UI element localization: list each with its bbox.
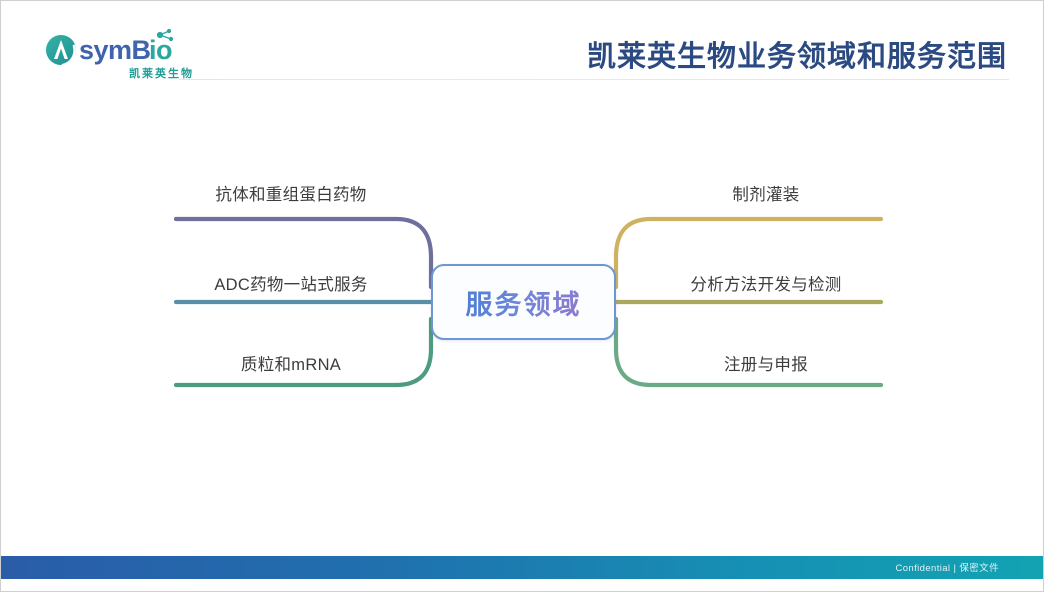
footer-bar <box>1 556 1044 579</box>
slide-canvas: symB io 凯莱英生物 凯莱英生物业务领域和服务范围 <box>0 0 1044 592</box>
center-node[interactable]: 服务领域 <box>431 264 616 340</box>
branch-label-left-2[interactable]: ADC药物一站式服务 <box>176 271 406 295</box>
svg-text:symB: symB <box>79 35 151 65</box>
branch-label-left-3[interactable]: 质粒和mRNA <box>176 351 406 375</box>
footer-whitespace <box>1 579 1044 591</box>
logo-asymbio-icon: symB io <box>41 27 206 69</box>
branch-label-left-1[interactable]: 抗体和重组蛋白药物 <box>176 181 406 205</box>
mindmap-diagram: 服务领域 抗体和重组蛋白药物 ADC药物一站式服务 质粒和mRNA 制剂灌装 分… <box>1 101 1044 441</box>
page-title: 凯莱英生物业务领域和服务范围 <box>587 33 1007 75</box>
logo: symB io 凯莱英生物 <box>41 27 206 83</box>
branch-label-right-1[interactable]: 制剂灌装 <box>651 181 881 205</box>
slide-header: symB io 凯莱英生物 凯莱英生物业务领域和服务范围 <box>1 1 1044 97</box>
header-divider <box>179 79 1009 80</box>
svg-text:io: io <box>149 35 172 65</box>
center-node-label: 服务领域 <box>466 283 582 322</box>
branch-label-right-3[interactable]: 注册与申报 <box>651 351 881 375</box>
branch-label-right-2[interactable]: 分析方法开发与检测 <box>651 271 881 295</box>
footer-confidential-text: Confidential | 保密文件 <box>895 560 999 574</box>
